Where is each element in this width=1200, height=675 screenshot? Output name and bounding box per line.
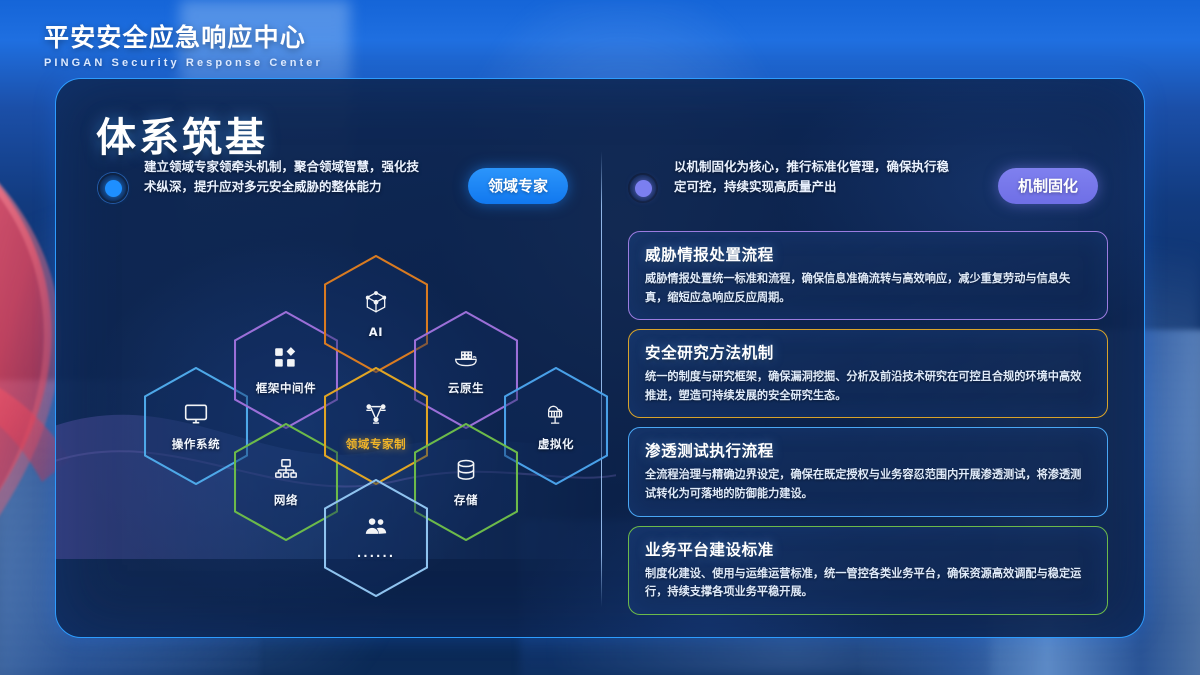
pill-mechanism-solidify[interactable]: 机制固化: [998, 168, 1098, 204]
card-body: 统一的制度与研究框架，确保漏洞挖掘、分析及前沿技术研究在可控且合规的环境中高效推…: [645, 368, 1091, 405]
mechanism-card[interactable]: 安全研究方法机制 统一的制度与研究框架，确保漏洞挖掘、分析及前沿技术研究在可控且…: [628, 329, 1108, 418]
left-column-description: 建立领域专家领牵头机制，聚合领域智慧，强化技术纵深，提升应对多元安全威胁的整体能…: [144, 157, 422, 198]
right-column-description: 以机制固化为核心，推行标准化管理，确保执行稳定可控，持续实现高质量产出: [674, 157, 952, 198]
card-title: 安全研究方法机制: [645, 341, 1091, 363]
card-title: 业务平台建设标准: [645, 538, 1091, 560]
hexagon-label: 领域专家制: [346, 436, 407, 452]
hexagon-virtual[interactable]: 虚拟化: [504, 367, 608, 485]
blocks-icon: [273, 345, 299, 371]
card-title: 威胁情报处置流程: [645, 243, 1091, 265]
main-panel: 体系筑基 建立领域专家领牵头机制，聚合领域智慧，强化技术纵深，提升应对多元安全威…: [55, 78, 1145, 638]
brand-name-en: PINGAN Security Response Center: [44, 57, 323, 69]
org-tree-icon: [363, 401, 389, 427]
card-body: 全流程治理与精确边界设定，确保在既定授权与业务容忍范围内开展渗透测试，将渗透测试…: [645, 466, 1091, 503]
cloud-server-icon: [543, 401, 569, 427]
right-column-header: 以机制固化为核心，推行标准化管理，确保执行稳定可控，持续实现高质量产出 机制固化: [628, 157, 1098, 204]
hexagon-label: AI: [369, 325, 383, 339]
hexagon-label: ······: [357, 549, 395, 563]
card-body: 威胁情报处置统一标准和流程，确保信息准确流转与高效响应，减少重复劳动与信息失真，…: [645, 270, 1091, 307]
hexagon-middleware[interactable]: 框架中间件: [234, 311, 338, 429]
hexagon-cloudnative[interactable]: 云原生: [414, 311, 518, 429]
mechanism-card-list: 威胁情报处置流程 威胁情报处置统一标准和流程，确保信息准确流转与高效响应，减少重…: [628, 231, 1108, 624]
docker-whale-icon: [453, 345, 479, 371]
monitor-icon: [183, 401, 209, 427]
hexagon-core[interactable]: 领域专家制: [324, 367, 428, 485]
ring-bullet-icon: [98, 173, 128, 203]
ai-cube-icon: [363, 290, 389, 316]
mechanism-card[interactable]: 渗透测试执行流程 全流程治理与精确边界设定，确保在既定授权与业务容忍范围内开展渗…: [628, 427, 1108, 516]
hexagon-network[interactable]: 网络: [234, 423, 338, 541]
hexagon-label: 网络: [274, 492, 298, 508]
people-icon: [363, 514, 389, 540]
mechanism-card[interactable]: 威胁情报处置流程 威胁情报处置统一标准和流程，确保信息准确流转与高效响应，减少重…: [628, 231, 1108, 320]
hexagon-ai[interactable]: AI: [324, 255, 428, 373]
ring-bullet-icon: [628, 173, 658, 203]
hexagon-label: 操作系统: [172, 436, 220, 452]
left-column-header: 建立领域专家领牵头机制，聚合领域智慧，强化技术纵深，提升应对多元安全威胁的整体能…: [98, 157, 568, 204]
page-title: 体系筑基: [96, 105, 268, 163]
mechanism-card[interactable]: 业务平台建设标准 制度化建设、使用与运维运营标准，统一管控各类业务平台，确保资源…: [628, 526, 1108, 615]
hexagon-label: 存储: [454, 492, 478, 508]
pill-domain-expert[interactable]: 领域专家: [468, 168, 568, 204]
brand-name-cn: 平安安全应急响应中心: [44, 18, 323, 54]
hexagon-label: 虚拟化: [538, 436, 574, 452]
card-body: 制度化建设、使用与运维运营标准，统一管控各类业务平台，确保资源高效调配与稳定运行…: [645, 565, 1091, 602]
card-title: 渗透测试执行流程: [645, 439, 1091, 461]
database-icon: [453, 457, 479, 483]
hexagon-label: 框架中间件: [256, 380, 317, 396]
brand-logo: 平安安全应急响应中心 PINGAN Security Response Cent…: [44, 18, 323, 69]
network-icon: [273, 457, 299, 483]
hexagon-cluster: 操作系统 框架中间件 AI 云原生 虚拟化: [66, 227, 596, 607]
hexagon-label: 云原生: [448, 380, 484, 396]
hexagon-more[interactable]: ······: [324, 479, 428, 597]
hexagon-storage[interactable]: 存储: [414, 423, 518, 541]
hexagon-os[interactable]: 操作系统: [144, 367, 248, 485]
